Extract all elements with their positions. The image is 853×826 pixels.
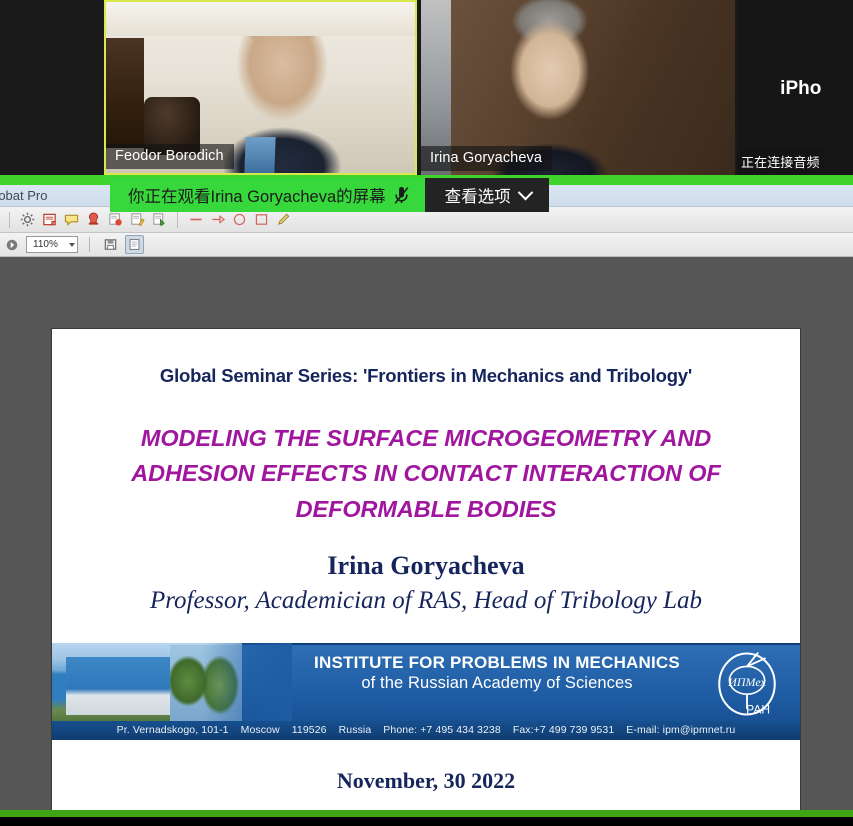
line-icon[interactable]: [186, 210, 205, 229]
institute-name-block: INSTITUTE FOR PROBLEMS IN MECHANICS of t…: [282, 653, 712, 694]
participant-display-label: iPho: [780, 78, 821, 100]
muted-mic-icon: [394, 187, 409, 204]
institute-logo-icon: ИПМех РАН: [710, 647, 784, 721]
toolbar-divider: [89, 237, 90, 252]
zoom-video-strip: Feodor Borodich Irina Goryacheva iPho 正在…: [0, 0, 853, 175]
next-page-icon[interactable]: [2, 235, 21, 254]
participant-tile-iphone[interactable]: iPho 正在连接音频: [737, 0, 853, 175]
fit-page-icon[interactable]: [125, 235, 144, 254]
text-callout-icon[interactable]: [128, 210, 147, 229]
oval-icon[interactable]: [230, 210, 249, 229]
contact-address: Pr. Vernadskogo, 101-1: [117, 724, 229, 736]
toolbar-divider: [177, 212, 178, 228]
attach-file-icon[interactable]: [150, 210, 169, 229]
institute-banner: INSTITUTE FOR PROBLEMS IN MECHANICS of t…: [52, 643, 800, 740]
contact-city: Moscow: [241, 724, 280, 736]
institute-contact-line: Pr. Vernadskogo, 101-1 Moscow 119526 Rus…: [52, 721, 800, 740]
pdf-page: Global Seminar Series: 'Frontiers in Mec…: [52, 329, 800, 821]
participant-audio-status: 正在连接音频: [737, 150, 824, 175]
participant-tile-irina-goryacheva[interactable]: Irina Goryacheva: [421, 0, 735, 175]
screen-share-bottom-border: [0, 810, 853, 817]
toolbar-divider: [9, 212, 10, 228]
institute-name-line1: INSTITUTE FOR PROBLEMS IN MECHANICS: [282, 653, 712, 674]
acrobat-view-toolbar: 110%: [0, 233, 853, 257]
slide-author-role: Professor, Academician of RAS, Head of T…: [52, 587, 800, 615]
institute-name-line2: of the Russian Academy of Sciences: [282, 673, 712, 693]
photo-gradient-fade: [202, 643, 292, 721]
svg-text:ИПМех: ИПМех: [727, 675, 766, 689]
save-icon[interactable]: [101, 235, 120, 254]
participant-tile-feodor-borodich[interactable]: Feodor Borodich: [104, 0, 417, 175]
stamp-icon[interactable]: [84, 210, 103, 229]
screen-bottom-bar: [0, 817, 853, 826]
svg-text:РАН: РАН: [746, 702, 770, 716]
gear-icon[interactable]: [18, 210, 37, 229]
contact-country: Russia: [339, 724, 372, 736]
chevron-down-icon: [517, 184, 533, 200]
highlight-text-icon[interactable]: [106, 210, 125, 229]
participant-name-label: Feodor Borodich: [106, 144, 234, 170]
contact-postcode: 119526: [292, 724, 327, 736]
view-options-button[interactable]: 查看选项: [425, 178, 549, 212]
acrobat-window: robat Pro: [0, 185, 853, 821]
pdf-document-viewport[interactable]: Global Seminar Series: 'Frontiers in Mec…: [0, 257, 853, 821]
sticky-note-icon[interactable]: [40, 210, 59, 229]
contact-fax: Fax:+7 499 739 9531: [513, 724, 614, 736]
slide-date: November, 30 2022: [52, 768, 800, 794]
acrobat-window-title: robat Pro: [0, 188, 47, 203]
screen-share-message: 你正在观看Irina Goryacheva的屏幕: [128, 183, 386, 207]
zoom-level-value: 110%: [33, 239, 58, 250]
contact-email: E-mail: ipm@ipmnet.ru: [626, 724, 735, 736]
view-options-label: 查看选项: [445, 183, 511, 207]
rectangle-icon[interactable]: [252, 210, 271, 229]
slide-heading: MODELING THE SURFACE MICROGEOMETRY AND A…: [52, 421, 800, 527]
screen-share-status[interactable]: 你正在观看Irina Goryacheva的屏幕: [110, 178, 425, 212]
participant-name-label: Irina Goryacheva: [421, 146, 552, 172]
arrow-icon[interactable]: [208, 210, 227, 229]
slide-series-title: Global Seminar Series: 'Frontiers in Mec…: [52, 365, 800, 387]
screen-share-toolbar: 你正在观看Irina Goryacheva的屏幕 查看选项: [110, 178, 549, 212]
screen-root: Feodor Borodich Irina Goryacheva iPho 正在…: [0, 0, 853, 826]
room-ceiling: [106, 2, 415, 36]
contact-phone: Phone: +7 495 434 3238: [383, 724, 501, 736]
comment-bubble-icon[interactable]: [62, 210, 81, 229]
zoom-level-combobox[interactable]: 110%: [26, 236, 78, 253]
chevron-down-icon: [69, 243, 75, 247]
slide-author: Irina Goryacheva: [52, 551, 800, 581]
pencil-icon[interactable]: [274, 210, 293, 229]
shirt-collar: [244, 137, 275, 173]
